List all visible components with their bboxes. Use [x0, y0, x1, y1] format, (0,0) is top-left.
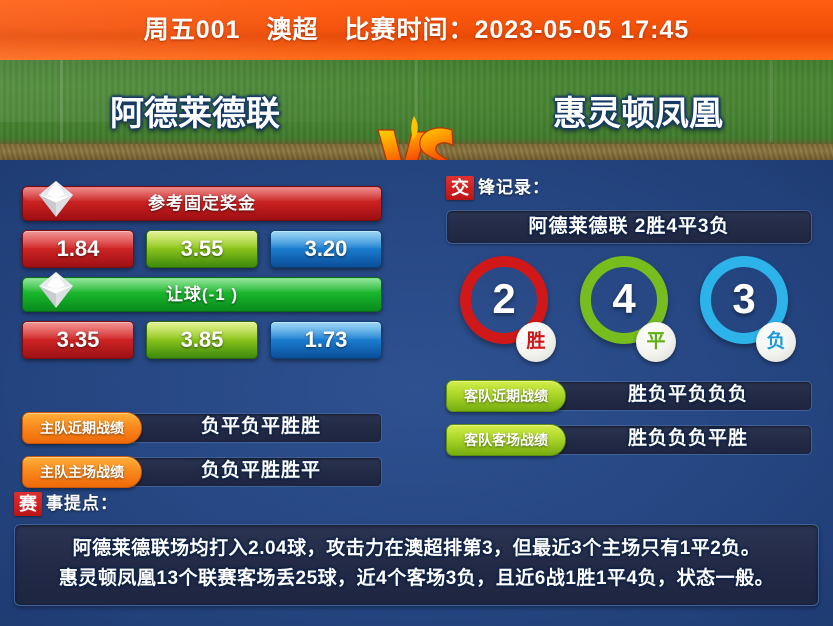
vs-flame-icon — [356, 112, 476, 160]
diamond-gem-icon — [37, 270, 75, 310]
match-tip-line: 阿德莱德联场均打入2.04球，攻击力在澳超排第3，但最近3个主场只有1平2负。 — [27, 534, 806, 564]
away-recent-record-value: 胜负平负负负 — [564, 380, 812, 410]
odds-panel: 参考固定奖金 1.84 3.55 3.20 让球 — [22, 186, 382, 486]
h2h-draw-badge: 平 — [636, 322, 676, 362]
match-tip-line: 惠灵顿凤凰13个联赛客场丢25球，近4个客场3负，且近6战1胜1平4负，状态一般… — [27, 564, 806, 594]
h2h-loss-ring: 3 负 — [694, 256, 794, 360]
tips-tag-badge: 赛 — [14, 492, 42, 516]
match-header-bar: 周五001 澳超 比赛时间：2023-05-05 17:45 — [0, 0, 833, 60]
diamond-gem-icon — [37, 179, 75, 219]
odds-value: 3.20 — [305, 236, 348, 261]
away-away-record-row: 客队客场战绩 胜负负负平胜 — [446, 424, 812, 454]
home-team-name: 阿德莱德联 — [30, 86, 360, 135]
handicap-button-draw[interactable]: 3.85 — [146, 321, 258, 359]
match-tips-section: 赛事提点： 阿德莱德联场均打入2.04球，攻击力在澳超排第3，但最近3个主场只有… — [14, 490, 819, 606]
home-recent-record-value: 负平负平胜胜 — [140, 412, 382, 442]
handicap-title: 让球(-1 ) — [23, 278, 381, 311]
tips-title-text: 事提点： — [46, 490, 118, 518]
h2h-draw-ring: 4 平 — [574, 256, 674, 360]
head-to-head-summary: 阿德莱德联 2胜4平3负 — [446, 210, 812, 244]
odds-value: 3.55 — [181, 236, 224, 261]
away-recent-record-row: 客队近期战绩 胜负平负负负 — [446, 380, 812, 410]
away-team-name: 惠灵顿凤凰 — [473, 86, 803, 135]
home-home-record-value: 负负平胜胜平 — [140, 456, 382, 486]
head-to-head-panel: 交锋记录： 阿德莱德联 2胜4平3负 2 胜 4 平 3 负 — [446, 174, 812, 454]
fixed-odds-title: 参考固定奖金 — [23, 187, 381, 220]
match-tips-body: 阿德莱德联场均打入2.04球，攻击力在澳超排第3，但最近3个主场只有1平2负。 … — [14, 524, 819, 606]
main-body: 参考固定奖金 1.84 3.55 3.20 让球 — [0, 160, 833, 626]
head-to-head-title: 交锋记录： — [446, 174, 812, 202]
h2h-title-text: 锋记录： — [478, 174, 550, 202]
handicap-button-home-win[interactable]: 3.35 — [22, 321, 134, 359]
home-home-record-label: 主队主场战绩 — [22, 456, 142, 488]
odds-value: 1.73 — [305, 327, 348, 352]
odds-value: 3.85 — [181, 327, 224, 352]
home-recent-record-label: 主队近期战绩 — [22, 412, 142, 444]
home-home-record-row: 主队主场战绩 负负平胜胜平 — [22, 456, 382, 486]
match-preview-card: 周五001 澳超 比赛时间：2023-05-05 17:45 阿德莱德联 惠灵顿… — [0, 0, 833, 626]
odds-button-draw[interactable]: 3.55 — [146, 230, 258, 268]
home-recent-record-row: 主队近期战绩 负平负平胜胜 — [22, 412, 382, 442]
odds-button-home-win[interactable]: 1.84 — [22, 230, 134, 268]
team-banner: 阿德莱德联 惠灵顿凤凰 — [0, 60, 833, 160]
fixed-odds-header: 参考固定奖金 — [22, 186, 382, 221]
odds-button-away-win[interactable]: 3.20 — [270, 230, 382, 268]
match-tips-title: 赛事提点： — [14, 490, 819, 518]
h2h-win-ring: 2 胜 — [454, 256, 554, 360]
away-away-record-value: 胜负负负平胜 — [564, 424, 812, 454]
odds-value: 3.35 — [57, 327, 100, 352]
h2h-loss-badge: 负 — [756, 322, 796, 362]
away-recent-record-label: 客队近期战绩 — [446, 380, 566, 412]
odds-value: 1.84 — [57, 236, 100, 261]
head-to-head-rings: 2 胜 4 平 3 负 — [446, 256, 812, 366]
handicap-header: 让球(-1 ) — [22, 277, 382, 312]
h2h-win-badge: 胜 — [516, 322, 556, 362]
fixed-odds-row: 1.84 3.55 3.20 — [22, 230, 382, 268]
match-header-text: 周五001 澳超 比赛时间：2023-05-05 17:45 — [0, 0, 833, 60]
away-away-record-label: 客队客场战绩 — [446, 424, 566, 456]
handicap-odds-row: 3.35 3.85 1.73 — [22, 321, 382, 359]
handicap-button-away-win[interactable]: 1.73 — [270, 321, 382, 359]
h2h-tag-badge: 交 — [446, 176, 474, 200]
